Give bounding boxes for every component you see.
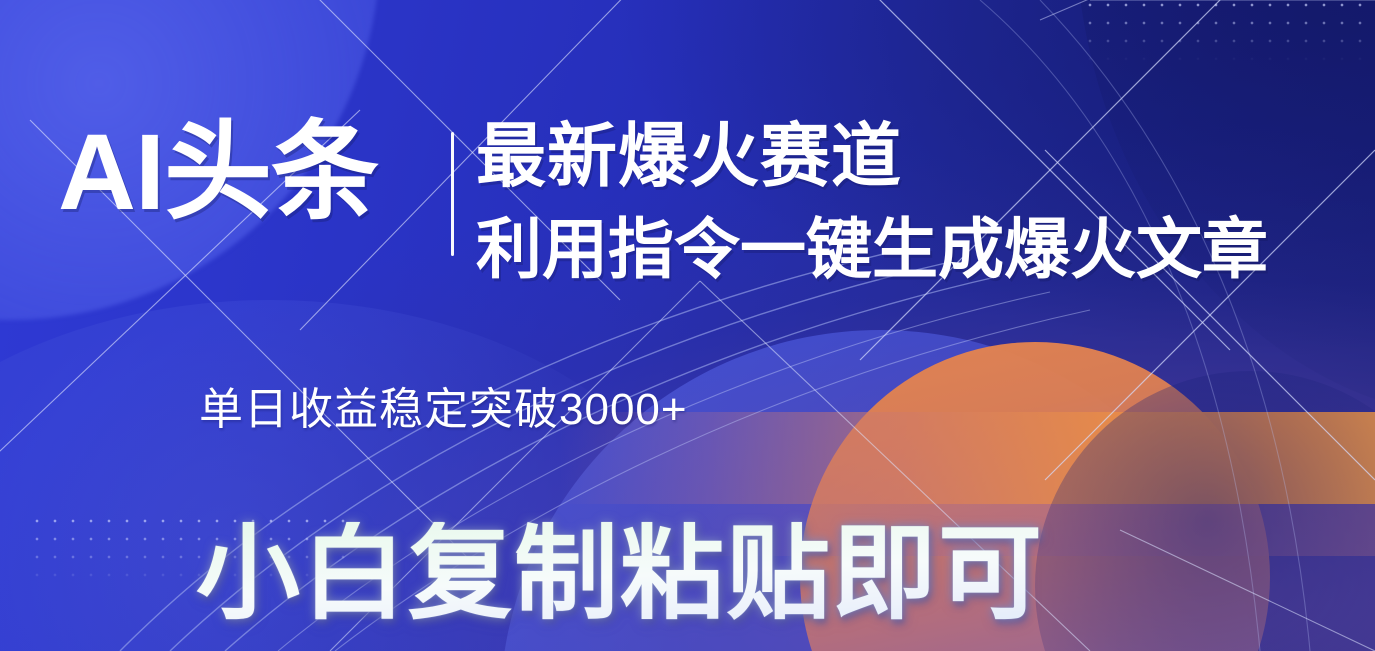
bottom-callout-text: 小白复制粘贴即可 — [196, 522, 1044, 626]
subtitle-text: 单日收益稳定突破3000+ — [199, 388, 688, 432]
headline-line-2: 利用指令一键生成爆火文章 — [476, 213, 1268, 286]
vertical-divider — [451, 132, 454, 256]
headline-block: 最新爆火赛道 利用指令一键生成爆火文章 — [476, 118, 1268, 286]
promo-banner: AI头条 最新爆火赛道 利用指令一键生成爆火文章 单日收益稳定突破3000+ 小… — [0, 0, 1375, 651]
headline-line-1: 最新爆火赛道 — [476, 118, 1268, 195]
brand-title: AI头条 — [58, 118, 378, 226]
